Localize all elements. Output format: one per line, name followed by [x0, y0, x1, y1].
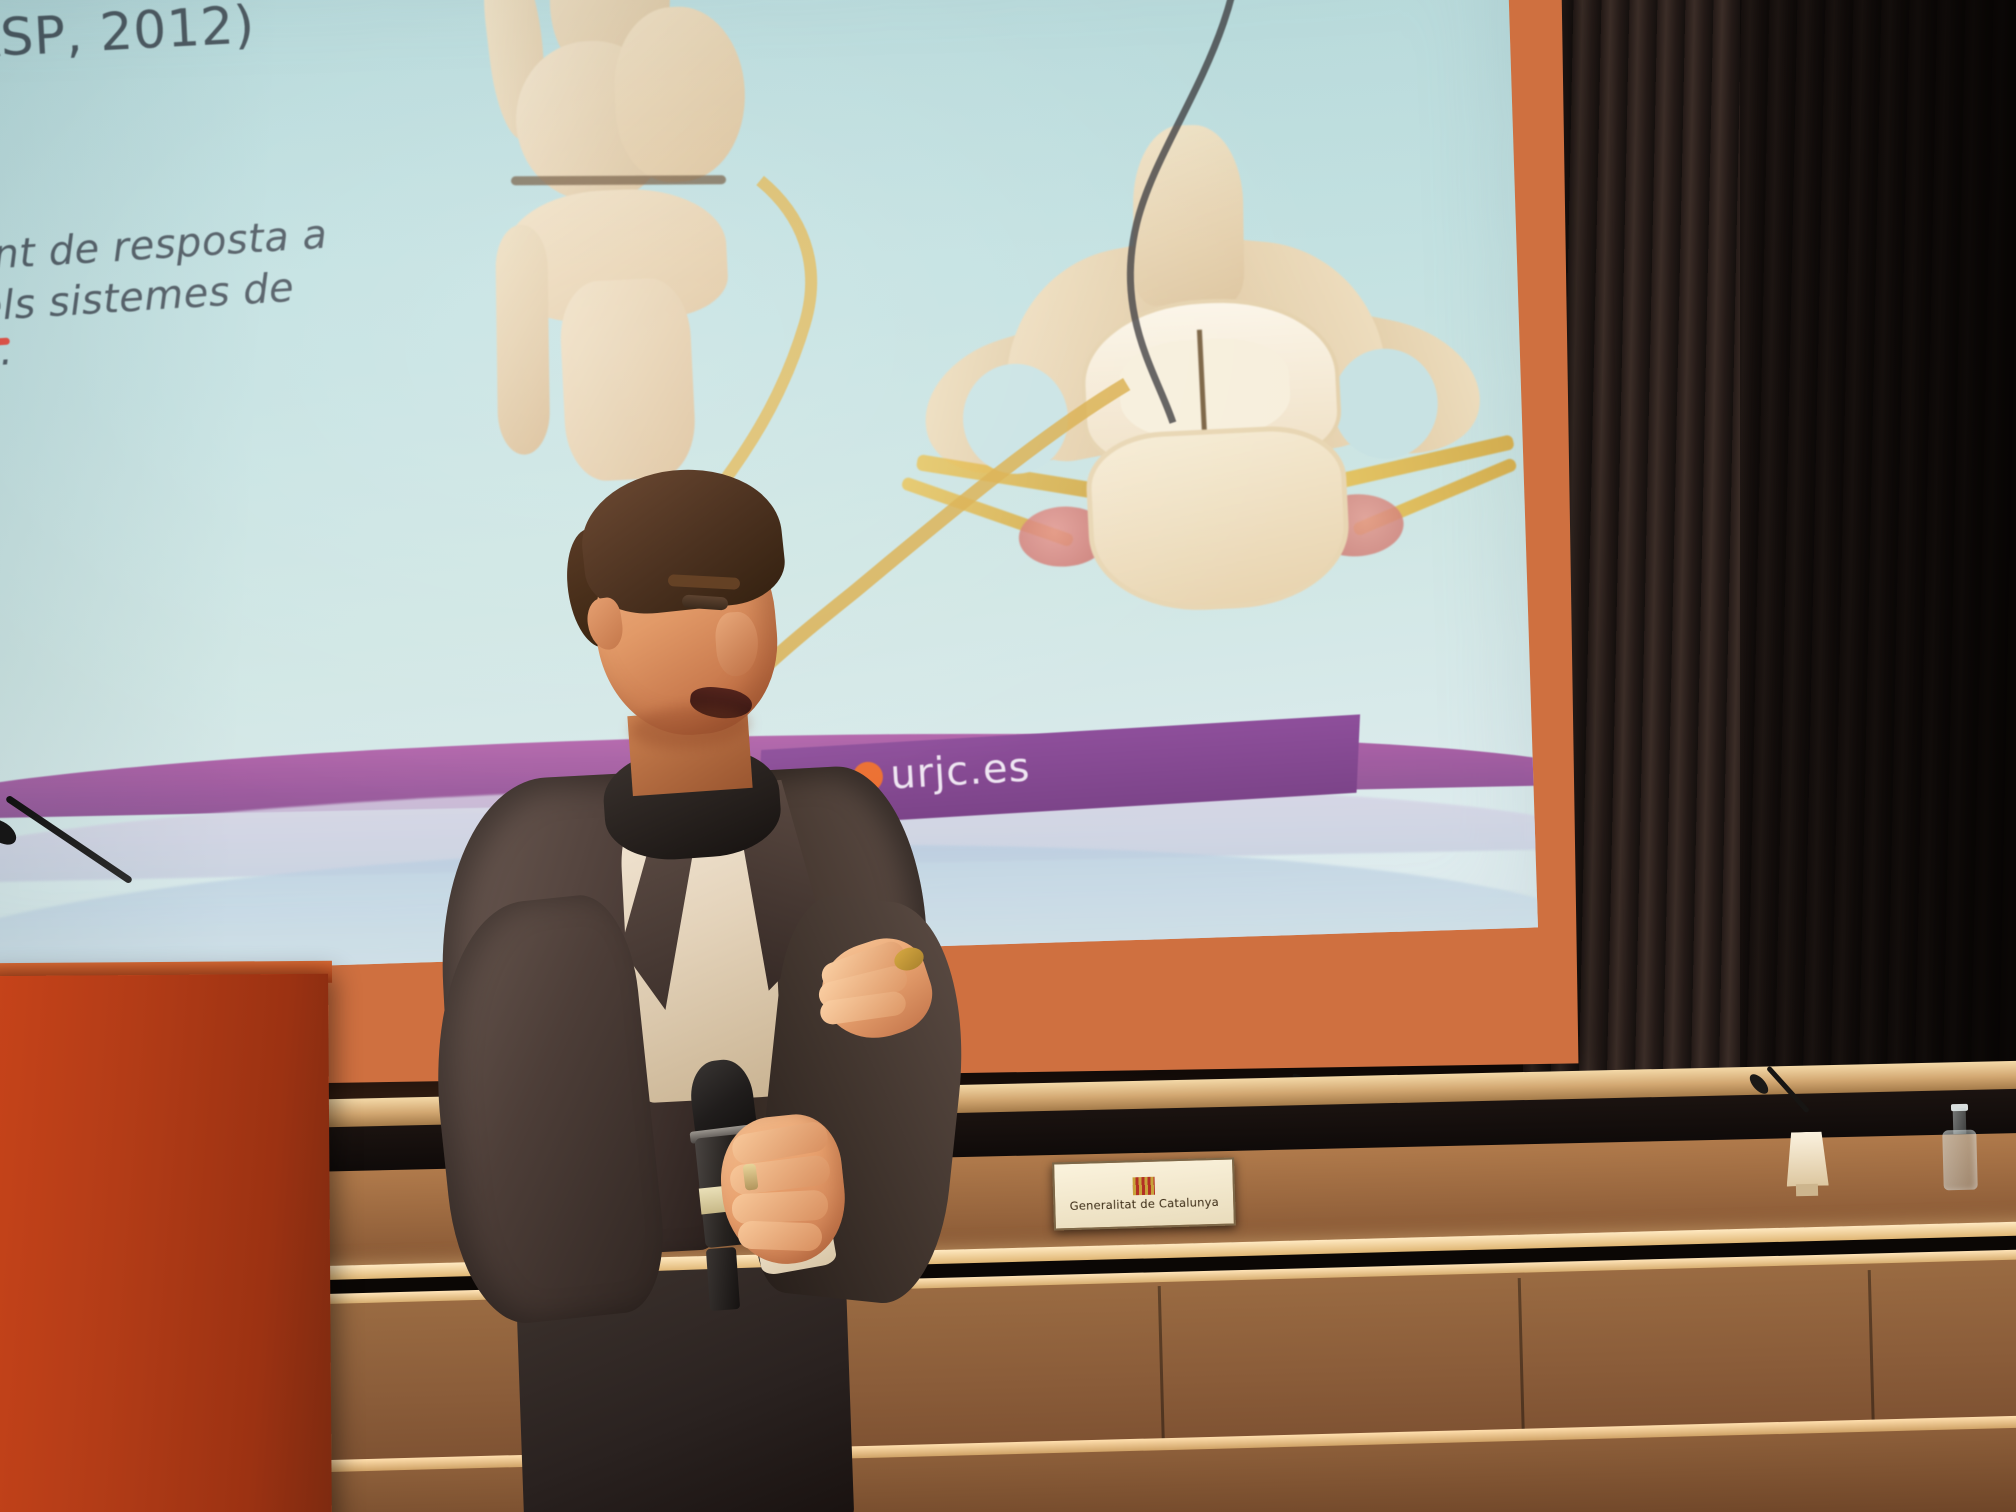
table-lamp-shade	[1785, 1131, 1828, 1186]
nameplate-sign: Generalitat de Catalunya	[1052, 1157, 1236, 1230]
finger-4	[738, 1221, 823, 1252]
table-lamp-base	[1796, 1184, 1818, 1197]
senyera-flag-icon	[1133, 1177, 1155, 1196]
finger-3	[731, 1190, 828, 1225]
handheld-microphone-tail	[706, 1247, 740, 1311]
conference-photo-scene: mats ". (IASP, 2012) augment de resposta…	[0, 0, 2016, 1512]
hair	[575, 460, 789, 620]
nameplate-text: Generalitat de Catalunya	[1069, 1195, 1219, 1213]
speaker-figure	[500, 480, 1060, 1512]
podium	[0, 974, 332, 1512]
water-bottle	[1942, 1130, 1978, 1191]
stage-curtain-shadow	[1740, 0, 2016, 1200]
